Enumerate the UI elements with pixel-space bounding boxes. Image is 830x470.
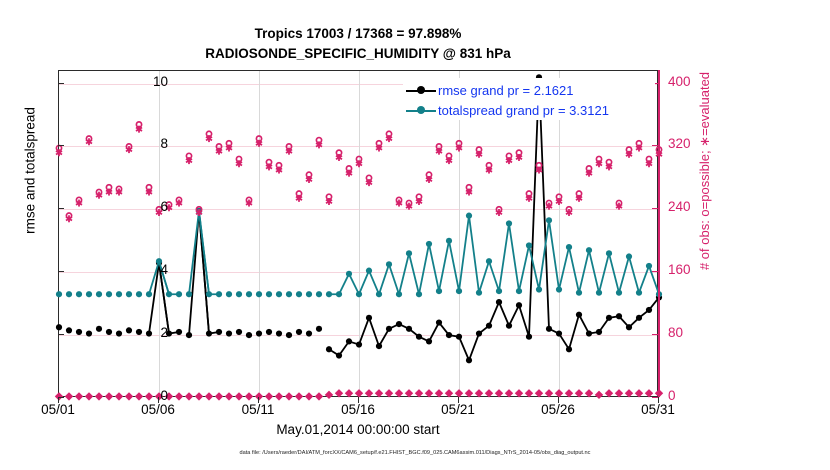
data-point	[286, 291, 292, 297]
obs-baseline-marker	[475, 389, 483, 397]
data-point	[256, 291, 262, 297]
obs-baseline-marker	[265, 392, 273, 400]
data-point	[226, 330, 232, 336]
data-point	[246, 291, 252, 297]
data-point	[646, 307, 652, 313]
data-point	[116, 330, 122, 336]
legend[interactable]: rmse grand pr = 2.1621 totalspread grand…	[403, 78, 655, 120]
data-point	[416, 291, 422, 297]
obs-baseline-marker	[505, 389, 513, 397]
obs-baseline-marker	[305, 392, 313, 400]
obs-baseline-marker	[575, 389, 583, 397]
data-point	[346, 338, 352, 344]
y-tick-mark-left	[58, 208, 64, 209]
y-tick-label-left: 4	[128, 262, 168, 277]
legend-label-totalspread: totalspread grand pr = 3.3121	[438, 103, 609, 118]
obs-baseline-marker	[345, 389, 353, 397]
data-point	[566, 346, 572, 352]
data-point	[596, 329, 602, 335]
obs-baseline-marker	[215, 392, 223, 400]
data-point	[296, 291, 302, 297]
obs-baseline-marker	[385, 389, 393, 397]
data-point	[496, 299, 502, 305]
obs-baseline-marker	[95, 392, 103, 400]
data-point	[246, 332, 252, 338]
data-point	[406, 250, 412, 256]
obs-baseline-marker	[315, 392, 323, 400]
obs-baseline-marker	[495, 389, 503, 397]
data-point	[456, 288, 462, 294]
data-point	[66, 291, 72, 297]
legend-marker-rmse-icon	[404, 80, 438, 100]
obs-baseline-marker	[175, 392, 183, 400]
data-point	[166, 291, 172, 297]
data-point	[316, 326, 322, 332]
y-tick-mark-left	[58, 334, 64, 335]
obs-baseline-marker	[105, 392, 113, 400]
data-point	[526, 334, 532, 340]
y-tick-mark-right	[652, 145, 658, 146]
data-point	[576, 290, 582, 296]
x-tick-mark	[358, 397, 359, 403]
data-point	[136, 291, 142, 297]
obs-baseline-marker	[75, 392, 83, 400]
x-tick-mark	[658, 397, 659, 403]
chart-page: Tropics 17003 / 17368 = 97.898% RADIOSON…	[0, 0, 830, 470]
legend-label-rmse: rmse grand pr = 2.1621	[438, 83, 574, 98]
data-point	[476, 330, 482, 336]
obs-baseline-marker	[65, 392, 73, 400]
data-point	[276, 330, 282, 336]
data-point	[646, 263, 652, 269]
data-point	[406, 326, 412, 332]
data-point	[356, 341, 362, 347]
data-point	[306, 330, 312, 336]
legend-marker-totalspread-icon	[404, 100, 438, 120]
obs-baseline-marker	[205, 392, 213, 400]
data-point	[106, 291, 112, 297]
data-point	[466, 357, 472, 363]
data-point	[216, 329, 222, 335]
obs-baseline-marker	[395, 389, 403, 397]
x-tick-mark	[58, 397, 59, 403]
y-axis-label-right: # of obs: o=possible; ∗=evaluated	[697, 11, 713, 331]
x-tick-mark	[158, 397, 159, 403]
data-point	[326, 346, 332, 352]
obs-baseline-marker	[515, 389, 523, 397]
data-point	[546, 217, 552, 223]
obs-baseline-marker	[445, 389, 453, 397]
obs-baseline-marker	[595, 391, 603, 399]
obs-baseline-marker	[625, 389, 633, 397]
obs-baseline-marker	[455, 389, 463, 397]
data-point	[126, 291, 132, 297]
data-point	[626, 253, 632, 259]
data-point	[606, 250, 612, 256]
data-point	[546, 326, 552, 332]
data-point	[376, 291, 382, 297]
data-point	[66, 327, 72, 333]
data-point	[396, 291, 402, 297]
data-point	[236, 329, 242, 335]
obs-baseline-marker	[425, 389, 433, 397]
page-title-line-2: RADIOSONDE_SPECIFIC_HUMIDITY @ 831 hPa	[0, 44, 716, 64]
y-tick-mark-left	[58, 83, 64, 84]
x-tick-label: 05/31	[628, 402, 688, 417]
data-point	[486, 258, 492, 264]
data-point	[176, 329, 182, 335]
data-point	[206, 291, 212, 297]
chart-title-block: Tropics 17003 / 17368 = 97.898% RADIOSON…	[0, 24, 716, 64]
data-point	[486, 323, 492, 329]
data-point	[276, 291, 282, 297]
data-point	[286, 332, 292, 338]
data-point	[446, 332, 452, 338]
data-point	[76, 291, 82, 297]
data-series-layer	[59, 71, 659, 398]
obs-baseline-marker	[255, 392, 263, 400]
data-point	[216, 291, 222, 297]
obs-baseline-marker	[465, 389, 473, 397]
obs-baseline-marker	[615, 389, 623, 397]
data-point	[456, 334, 462, 340]
data-point	[616, 313, 622, 319]
x-tick-label: 05/01	[28, 402, 88, 417]
obs-baseline-marker	[525, 389, 533, 397]
data-point	[346, 271, 352, 277]
data-point	[466, 213, 472, 219]
data-point	[296, 329, 302, 335]
data-point	[56, 291, 62, 297]
right-axis-line	[658, 70, 660, 397]
obs-baseline-marker	[365, 389, 373, 397]
obs-baseline-marker	[335, 389, 343, 397]
data-point	[316, 291, 322, 297]
data-point	[306, 291, 312, 297]
page-title-line-1: Tropics 17003 / 17368 = 97.898%	[0, 24, 716, 44]
obs-baseline-marker	[605, 389, 613, 397]
data-point	[366, 268, 372, 274]
data-point	[106, 329, 112, 335]
data-point	[426, 338, 432, 344]
obs-baseline-marker	[375, 389, 383, 397]
data-point	[526, 242, 532, 248]
obs-baseline-marker	[275, 392, 283, 400]
data-point	[336, 291, 342, 297]
obs-baseline-marker	[485, 389, 493, 397]
data-point	[636, 315, 642, 321]
obs-baseline-marker	[325, 391, 333, 399]
obs-baseline-marker	[405, 389, 413, 397]
data-point	[416, 334, 422, 340]
data-point	[566, 244, 572, 250]
data-point	[236, 291, 242, 297]
data-point	[266, 329, 272, 335]
x-axis-label: May.01,2014 00:00:00 start	[58, 422, 658, 437]
obs-baseline-marker	[225, 392, 233, 400]
data-point	[366, 315, 372, 321]
obs-baseline-marker	[185, 392, 193, 400]
data-point	[436, 319, 442, 325]
x-tick-label: 05/26	[528, 402, 588, 417]
data-point	[616, 290, 622, 296]
x-tick-label: 05/11	[228, 402, 288, 417]
x-tick-label: 05/06	[128, 402, 188, 417]
x-tick-label: 05/21	[428, 402, 488, 417]
obs-baseline-marker	[85, 392, 93, 400]
data-point	[176, 291, 182, 297]
y-tick-mark-left	[58, 271, 64, 272]
obs-baseline-marker	[235, 392, 243, 400]
data-point	[96, 291, 102, 297]
data-point	[86, 330, 92, 336]
data-point	[436, 288, 442, 294]
data-point	[356, 291, 362, 297]
data-point	[386, 261, 392, 267]
data-point	[426, 241, 432, 247]
obs-baseline-marker	[285, 392, 293, 400]
data-point	[326, 291, 332, 297]
obs-baseline-marker	[545, 389, 553, 397]
data-point	[626, 324, 632, 330]
data-point	[516, 302, 522, 308]
data-point	[336, 352, 342, 358]
y-tick-mark-right	[652, 271, 658, 272]
y-tick-label-left: 10	[128, 74, 168, 89]
data-point	[96, 326, 102, 332]
y-tick-mark-right	[652, 208, 658, 209]
y-tick-label-left: 2	[128, 325, 168, 340]
data-point	[396, 321, 402, 327]
legend-item-totalspread[interactable]: totalspread grand pr = 3.3121	[404, 100, 654, 120]
data-point	[536, 286, 542, 292]
data-point	[256, 330, 262, 336]
data-point	[506, 220, 512, 226]
x-tick-label: 05/16	[328, 402, 388, 417]
obs-baseline-marker	[355, 389, 363, 397]
x-tick-mark	[558, 397, 559, 403]
data-point	[576, 312, 582, 318]
data-point	[496, 288, 502, 294]
data-point	[386, 326, 392, 332]
data-point	[556, 286, 562, 292]
data-point	[376, 343, 382, 349]
data-point	[56, 324, 62, 330]
data-point	[266, 291, 272, 297]
obs-baseline-marker	[115, 392, 123, 400]
data-point	[586, 247, 592, 253]
obs-baseline-marker	[555, 389, 563, 397]
data-point	[146, 291, 152, 297]
y-tick-label-left: 6	[128, 199, 168, 214]
data-point	[556, 330, 562, 336]
data-point	[516, 288, 522, 294]
data-point	[606, 315, 612, 321]
obs-baseline-marker	[635, 389, 643, 397]
obs-baseline-marker	[295, 392, 303, 400]
data-point	[226, 291, 232, 297]
obs-baseline-marker	[415, 389, 423, 397]
obs-baseline-marker	[435, 389, 443, 397]
data-point	[186, 291, 192, 297]
x-tick-mark	[258, 397, 259, 403]
y-axis-label-left: rmse and totalspread	[23, 11, 38, 331]
obs-baseline-marker	[195, 392, 203, 400]
obs-baseline-marker	[535, 389, 543, 397]
data-point	[476, 290, 482, 296]
data-file-footer: data file: /Users/raeder/DAI/ATM_forcXX/…	[0, 450, 830, 456]
x-tick-mark	[458, 397, 459, 403]
data-point	[446, 238, 452, 244]
data-point	[86, 291, 92, 297]
data-point	[636, 290, 642, 296]
y-tick-label-left: 8	[128, 136, 168, 151]
series-line	[56, 208, 662, 298]
data-point	[186, 332, 192, 338]
legend-item-rmse[interactable]: rmse grand pr = 2.1621	[404, 80, 654, 100]
data-point	[76, 329, 82, 335]
data-point	[116, 291, 122, 297]
y-tick-label-right: 0	[668, 388, 708, 403]
data-point	[596, 290, 602, 296]
y-tick-label-left: 0	[128, 388, 168, 403]
obs-baseline-marker	[245, 392, 253, 400]
data-point	[586, 330, 592, 336]
data-point	[506, 323, 512, 329]
data-point	[206, 330, 212, 336]
obs-baseline-marker	[585, 389, 593, 397]
obs-baseline-marker	[565, 389, 573, 397]
y-tick-mark-right	[652, 334, 658, 335]
y-tick-mark-left	[58, 145, 64, 146]
